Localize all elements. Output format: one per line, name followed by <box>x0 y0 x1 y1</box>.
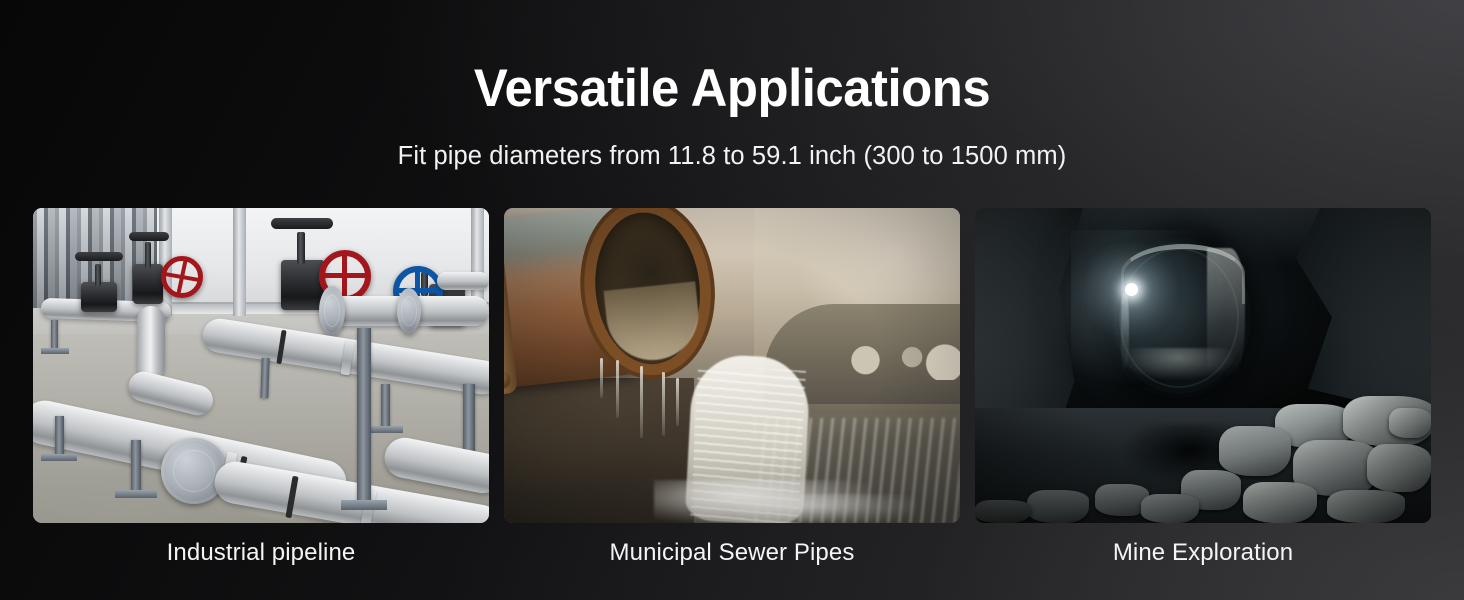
application-card-municipal-sewer-pipes: Municipal Sewer Pipes <box>504 208 960 567</box>
banner-header: Versatile Applications Fit pipe diameter… <box>0 0 1464 172</box>
industrial-pipeline-photo <box>33 208 489 523</box>
industrial-pipeline-scene <box>33 208 489 523</box>
mine-exploration-scene <box>975 208 1431 523</box>
application-cards: Industrial pipeline <box>33 208 1431 567</box>
card-caption-mine-exploration: Mine Exploration <box>975 539 1431 567</box>
municipal-sewer-pipes-photo <box>504 208 960 523</box>
municipal-sewer-scene <box>504 208 960 523</box>
page-subtitle: Fit pipe diameters from 11.8 to 59.1 inc… <box>0 141 1464 172</box>
page-title: Versatile Applications <box>29 62 1434 115</box>
card-caption-municipal-sewer-pipes: Municipal Sewer Pipes <box>504 539 960 567</box>
card-caption-industrial-pipeline: Industrial pipeline <box>33 539 489 567</box>
application-card-industrial-pipeline: Industrial pipeline <box>33 208 489 567</box>
application-card-mine-exploration: Mine Exploration <box>975 208 1431 567</box>
mine-exploration-photo <box>975 208 1431 523</box>
versatile-applications-banner: Versatile Applications Fit pipe diameter… <box>0 0 1464 600</box>
mine-lamp-light <box>1125 283 1138 296</box>
